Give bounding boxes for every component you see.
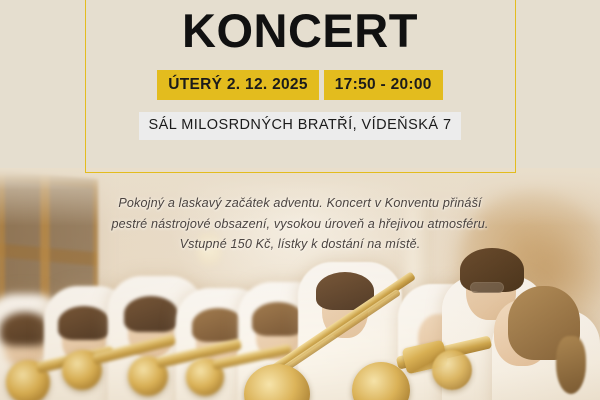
time-badge: 17:50 - 20:00 (324, 70, 443, 100)
description: Pokojný a laskavý začátek adventu. Konce… (0, 193, 600, 255)
date-time-row: ÚTERÝ 2. 12. 2025 17:50 - 20:00 (0, 70, 600, 100)
boy-glasses (470, 282, 504, 293)
musician-hair-back-2 (58, 306, 110, 340)
musician-hair-back-1 (0, 312, 50, 346)
venue-row: SÁL MILOSRDNÝCH BRATŘÍ, VÍDEŇSKÁ 7 (0, 112, 600, 140)
description-line-3: Vstupné 150 Kč, lístky k dostání na míst… (0, 234, 600, 255)
description-line-2: pestré nástrojové obsazení, vysokou úrov… (0, 214, 600, 235)
venue-badge: SÁL MILOSRDNÝCH BRATŘÍ, VÍDEŇSKÁ 7 (139, 112, 462, 140)
musician-hair-back-3 (124, 296, 178, 332)
description-line-1: Pokojný a laskavý začátek adventu. Konce… (0, 193, 600, 214)
girl-ponytail (556, 336, 586, 394)
date-badge: ÚTERÝ 2. 12. 2025 (157, 70, 319, 100)
page-title: KONCERT (0, 7, 600, 55)
musician-hair-back-4 (192, 308, 244, 342)
trumpet-bell-6 (432, 350, 472, 390)
concert-poster: KONCERT ÚTERÝ 2. 12. 2025 17:50 - 20:00 … (0, 0, 600, 400)
musician-hair-back-5 (252, 302, 304, 336)
